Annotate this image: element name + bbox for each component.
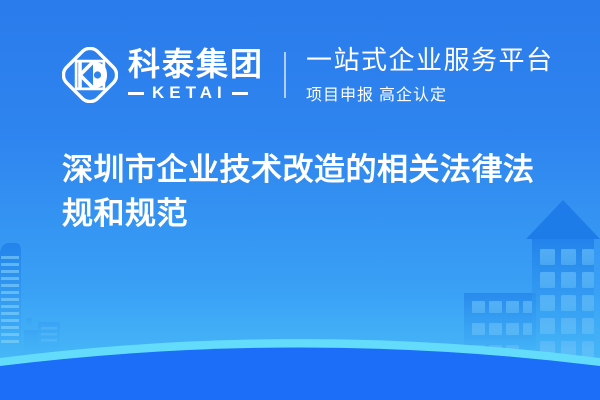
promo-banner: 科泰集团 KETAI 一站式企业服务平台 项目申报 高企认定 深圳市企业技术改造… <box>0 0 600 400</box>
ketai-diamond-monogram-icon <box>62 47 118 103</box>
brand-name-en-row: KETAI <box>128 83 264 103</box>
wordmark-rule-right <box>232 92 248 95</box>
tagline-main: 一站式企业服务平台 <box>306 45 554 76</box>
brand-name-cn: 科泰集团 <box>128 47 264 82</box>
low-rise-buildings-icon <box>24 318 60 360</box>
header-divider <box>284 52 286 98</box>
grid-window-office-icon <box>464 293 536 360</box>
striped-skyscraper-icon <box>0 243 21 360</box>
page-title: 深圳市企业技术改造的相关法律法规和规范 <box>62 148 562 236</box>
brand-name-en: KETAI <box>144 83 232 103</box>
wordmark-rule-left <box>128 92 144 95</box>
curved-horizon-arc-icon <box>0 339 600 400</box>
brand-wordmark: 科泰集团 KETAI <box>128 47 264 104</box>
banner-header: 科泰集团 KETAI 一站式企业服务平台 项目申报 高企认定 <box>62 38 554 112</box>
tagline-block: 一站式企业服务平台 项目申报 高企认定 <box>306 45 554 105</box>
tagline-sub: 项目申报 高企认定 <box>306 81 554 105</box>
